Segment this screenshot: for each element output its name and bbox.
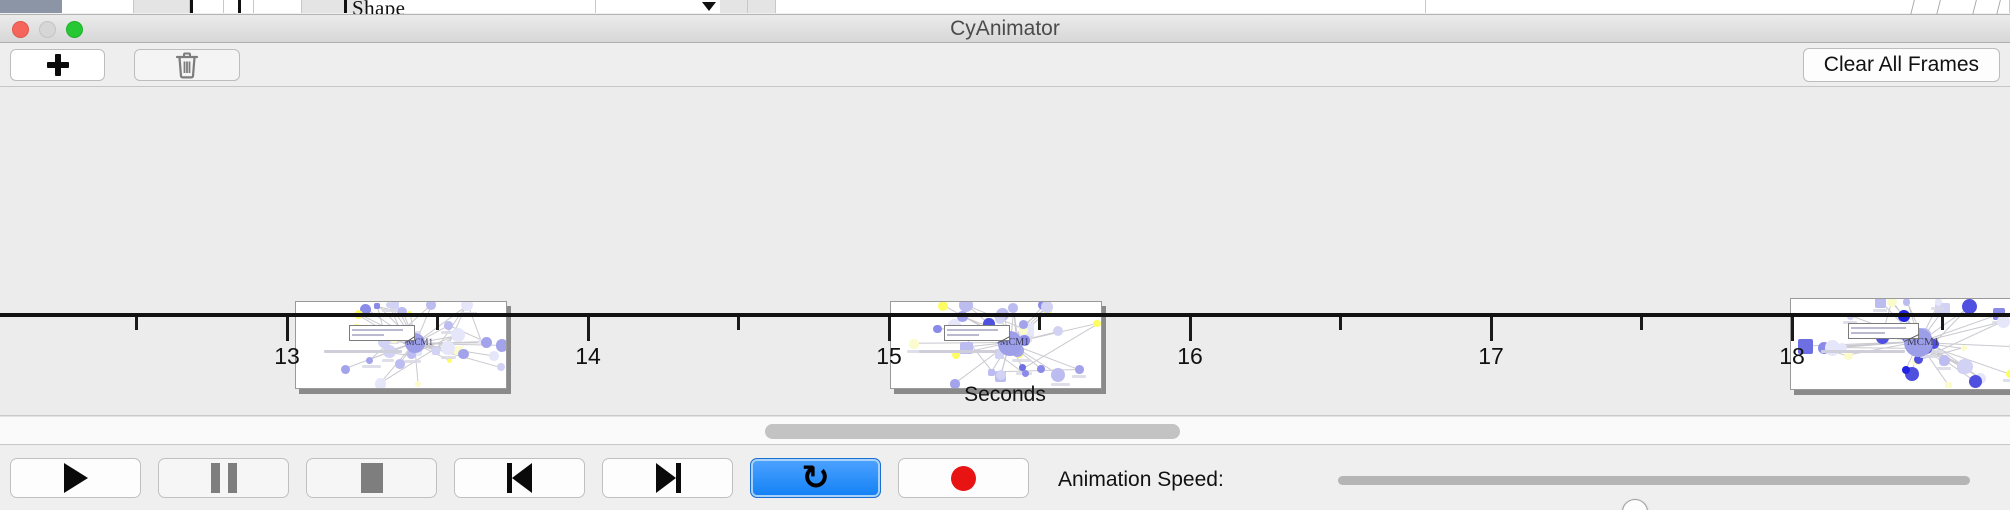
- ruler-tick-major: [888, 317, 891, 341]
- ruler-tick-major: [1490, 317, 1493, 341]
- title-bar[interactable]: CyAnimator: [0, 15, 2010, 43]
- timeline-scrollbar[interactable]: [0, 416, 2010, 445]
- network-node: [1037, 365, 1045, 373]
- next-frame-button[interactable]: [602, 458, 733, 498]
- pause-button[interactable]: [158, 458, 289, 498]
- previous-frame-button[interactable]: [454, 458, 585, 498]
- frame-toolbar: Clear All Frames: [0, 43, 2010, 87]
- timeline-frame-thumbnail[interactable]: MCM1: [1790, 298, 2010, 390]
- axis-label-seconds: Seconds: [0, 383, 2010, 407]
- record-button[interactable]: [898, 458, 1029, 498]
- network-annotation-text: [1851, 327, 1906, 329]
- play-button[interactable]: [10, 458, 141, 498]
- network-node-label: [1873, 309, 1887, 312]
- background-selected-cell: [0, 0, 62, 13]
- animation-speed-slider-thumb[interactable]: [1622, 499, 1648, 510]
- loop-button[interactable]: ↻: [750, 458, 881, 498]
- network-node: [461, 301, 473, 311]
- network-node: [1053, 326, 1063, 336]
- network-node: [1022, 370, 1029, 377]
- network-node: [458, 349, 469, 360]
- ruler-tick-minor: [436, 317, 439, 330]
- network-node: [444, 321, 453, 330]
- ruler-baseline: [0, 313, 2010, 317]
- plus-icon: [47, 54, 69, 76]
- network-annotation-text: [352, 334, 384, 336]
- network-annotation-text: [947, 329, 998, 331]
- network-node-label: [1072, 375, 1086, 378]
- network-node: [988, 369, 995, 376]
- ruler-tick-minor: [1941, 317, 1944, 330]
- network-node: [1041, 301, 1053, 313]
- network-node: [481, 337, 492, 348]
- ruler-tick-label: 14: [575, 343, 601, 370]
- playback-control-bar: ↻ Animation Speed:: [0, 446, 2010, 510]
- ruler-tick-label: 15: [876, 343, 902, 370]
- network-node: [1875, 298, 1886, 308]
- network-node: [1019, 320, 1028, 329]
- network-annotation-text: [352, 329, 403, 331]
- pause-icon: [211, 463, 237, 493]
- stop-button[interactable]: [306, 458, 437, 498]
- network-annotation-box: [944, 325, 1010, 341]
- network-caption: [919, 350, 997, 353]
- network-node: [1008, 303, 1018, 313]
- record-icon: [951, 466, 976, 491]
- network-node-label: [441, 356, 456, 359]
- network-caption: [324, 350, 402, 353]
- network-node: [1939, 355, 1951, 367]
- scrollbar-thumb[interactable]: [765, 424, 1180, 439]
- network-node-label: [404, 360, 420, 363]
- animation-speed-label: Animation Speed:: [1058, 468, 1224, 492]
- ruler-tick-minor: [737, 317, 740, 330]
- network-node: [366, 357, 374, 365]
- background-shape-label: Shape: [352, 0, 405, 15]
- timeline-panel[interactable]: MCM1 MCM1 MCM1 12131415161718 Seconds: [0, 88, 2010, 416]
- ruler-tick-major: [1189, 317, 1192, 341]
- network-node: [489, 351, 499, 361]
- network-caption: [1821, 350, 1905, 353]
- network-node: [1962, 299, 1978, 315]
- network-node: [1903, 298, 1910, 305]
- network-node: [909, 339, 918, 348]
- network-node: [1961, 345, 1967, 351]
- loop-icon: ↻: [801, 461, 830, 495]
- network-node-label: [2003, 379, 2010, 382]
- stop-icon: [361, 463, 383, 493]
- network-node: [496, 339, 507, 352]
- ruler-tick-minor: [135, 317, 138, 330]
- network-node-label: [1012, 359, 1031, 362]
- network-node: [1957, 359, 1972, 374]
- network-node: [497, 363, 505, 371]
- play-icon: [64, 463, 88, 493]
- ruler-tick-minor: [1339, 317, 1342, 330]
- ruler-tick-label: 18: [1779, 343, 1805, 370]
- skip-back-icon: [505, 463, 535, 493]
- ruler-tick-minor: [1038, 317, 1041, 330]
- network-node: [391, 301, 399, 309]
- add-frame-button[interactable]: [10, 49, 105, 81]
- network-node: [426, 301, 435, 310]
- trash-icon: [175, 51, 199, 79]
- ruler-tick-label: 17: [1478, 343, 1504, 370]
- ruler-tick-label: 16: [1177, 343, 1203, 370]
- network-node: [933, 325, 941, 333]
- delete-frame-button[interactable]: [134, 49, 240, 81]
- network-node: [938, 301, 948, 311]
- network-node: [1075, 365, 1084, 374]
- network-node: [2006, 370, 2010, 378]
- network-node: [374, 303, 380, 309]
- cyanimator-window: Shape CyAnimator Clear All Fr: [0, 0, 2010, 510]
- animation-speed-slider[interactable]: [1338, 476, 1970, 485]
- network-node: [441, 341, 455, 355]
- network-node-label: [362, 365, 381, 368]
- network-node: [1825, 340, 1840, 355]
- clear-all-frames-button[interactable]: Clear All Frames: [1803, 48, 2000, 82]
- network-thumbnail: MCM1: [1790, 298, 2010, 390]
- network-annotation-text: [1851, 332, 1885, 334]
- network-node-label: [1936, 367, 1951, 370]
- ruler-tick-major: [1791, 317, 1794, 341]
- network-node-label: [382, 309, 398, 312]
- network-node: [451, 328, 465, 342]
- network-annotation-box: [349, 325, 415, 341]
- network-node: [959, 301, 973, 312]
- network-node: [1935, 298, 1943, 306]
- network-node: [395, 359, 405, 369]
- network-node: [1051, 368, 1065, 382]
- window-title: CyAnimator: [0, 15, 2010, 43]
- network-annotation-text: [947, 334, 979, 336]
- network-node: [1093, 320, 1100, 327]
- background-window: Shape: [0, 0, 2010, 15]
- ruler-tick-label: 13: [274, 343, 300, 370]
- ruler-tick-major: [286, 317, 289, 341]
- network-node-label: [1931, 307, 1944, 310]
- network-node: [432, 347, 440, 355]
- skip-forward-icon: [653, 463, 683, 493]
- network-node-label: [382, 359, 394, 362]
- ruler-tick-major: [587, 317, 590, 341]
- ruler-tick-minor: [1640, 317, 1643, 330]
- network-node: [341, 365, 350, 374]
